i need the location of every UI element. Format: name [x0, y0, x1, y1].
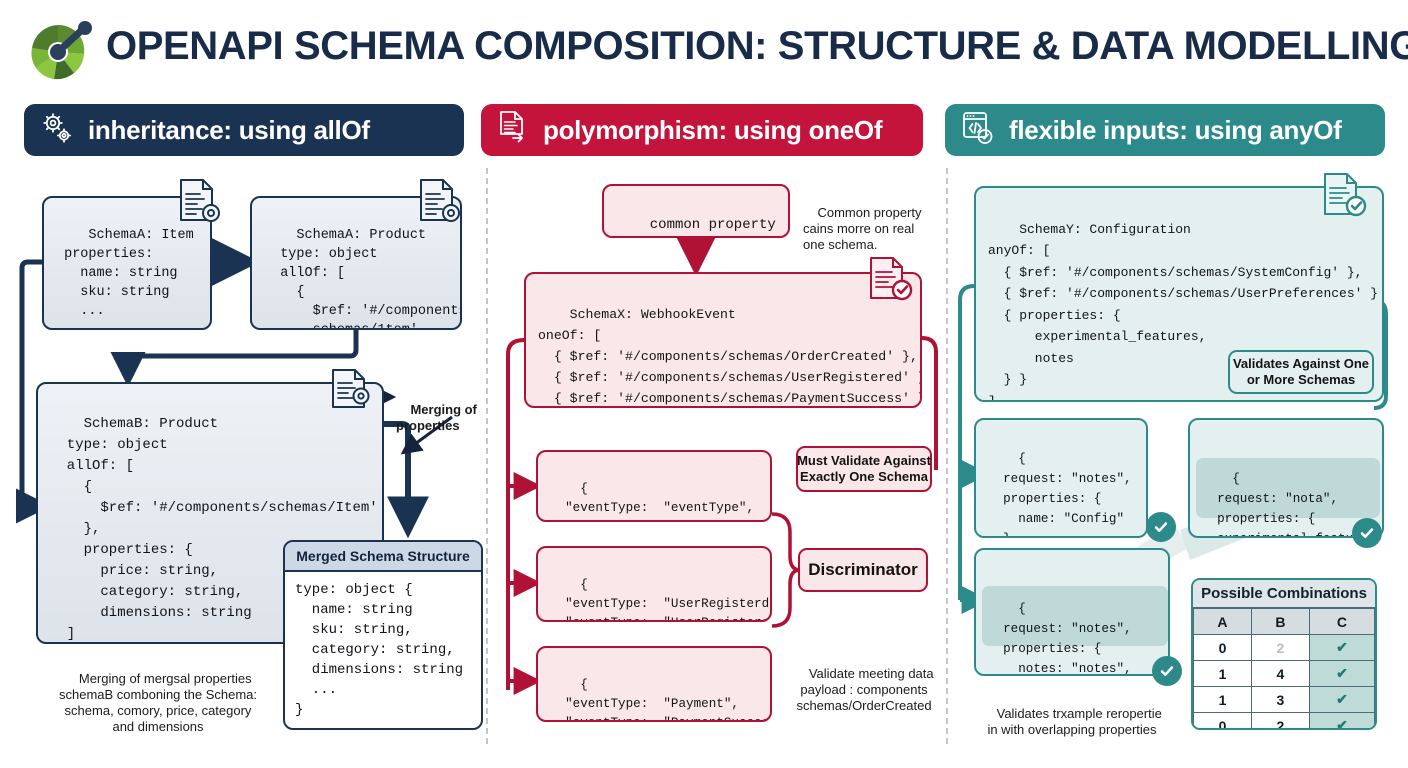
- table-header-row: A B C: [1194, 609, 1375, 635]
- browser-code-check-icon: [961, 110, 995, 151]
- check-badge: [1152, 656, 1182, 686]
- section-banner-allof[interactable]: inheritance: using allOf: [24, 104, 464, 156]
- cell-c-check: ✔: [1309, 635, 1374, 661]
- payload-order-created-text: { "eventType: "eventType", "eventType: "…: [550, 482, 769, 522]
- cell-b: 2: [1251, 635, 1309, 661]
- cell-c-check: ✔: [1309, 713, 1374, 731]
- infographic-root: OPENAPI SCHEMA COMPOSITION: STRUCTURE & …: [0, 0, 1408, 768]
- cell-a: 1: [1194, 661, 1252, 687]
- cell-b: 2: [1251, 713, 1309, 731]
- openapi-gauge-logo-icon: [26, 18, 98, 84]
- schema-x-webhookevent-card: SchemaX: WebhookEvent oneOf: [ { $ref: '…: [524, 272, 922, 408]
- payload-payment-success-text: { "eventType: "Payment", "eventType: "Pa…: [550, 678, 772, 722]
- possible-combinations-table: Possible Combinations A B C 0 2 ✔ 1 4 ✔: [1191, 578, 1377, 730]
- merging-summary-note: Merging of mergsal properties schemaB co…: [30, 655, 286, 751]
- highlight-band: [1196, 458, 1380, 518]
- check-badge: [1146, 512, 1176, 542]
- cell-a: 0: [1194, 635, 1252, 661]
- table-row: 1 4 ✔: [1194, 661, 1375, 687]
- section-banner-anyof[interactable]: flexible inputs: using anyOf: [945, 104, 1385, 156]
- section-banner-anyof-label: flexible inputs: using anyOf: [1009, 115, 1342, 146]
- overlapping-properties-note: Validates trxample reropertie in with ov…: [964, 690, 1180, 754]
- payload-user-registered-card: { "eventType: "UserRegisterd", "eventTyp…: [536, 546, 772, 622]
- must-validate-chip: Must Validate Against Exactly One Schema: [796, 446, 932, 492]
- example-notes-request-card: { request: "notes", properties: { notes:…: [974, 548, 1170, 676]
- payload-payment-success-card: { "eventType: "Payment", "eventType: "Pa…: [536, 646, 772, 722]
- example-config-request-text: { request: "notes", properties: { name: …: [988, 452, 1132, 538]
- merged-schema-structure-body: type: object { name: string sku: string,…: [285, 572, 481, 728]
- page-header: OPENAPI SCHEMA COMPOSITION: STRUCTURE & …: [0, 0, 1408, 96]
- cell-c-check: ✔: [1309, 687, 1374, 713]
- cell-c-check: ✔: [1309, 661, 1374, 687]
- example-config-request-card: { request: "notes", properties: { name: …: [974, 418, 1148, 538]
- example-nota-request-card: { request: "nota", properties: { experim…: [1188, 418, 1384, 538]
- document-gear-icon: [178, 178, 222, 228]
- possible-combinations-title: Possible Combinations: [1193, 580, 1375, 608]
- cell-b: 4: [1251, 661, 1309, 687]
- column-header-a: A: [1194, 609, 1252, 635]
- schema-a-item-text: SchemaA: Item properties: name: string s…: [56, 228, 194, 319]
- column-header-b: B: [1251, 609, 1309, 635]
- schema-x-webhookevent-text: SchemaX: WebhookEvent oneOf: [ { $ref: '…: [538, 307, 922, 408]
- table-row: 0 2 ✔: [1194, 635, 1375, 661]
- highlight-band: [982, 586, 1168, 646]
- validates-against-chip: Validates Against One or More Schemas: [1228, 350, 1374, 394]
- table-row: 1 3 ✔: [1194, 687, 1375, 713]
- document-gear-icon: [418, 178, 462, 228]
- column-divider-1: [486, 168, 488, 744]
- cell-a: 0: [1194, 713, 1252, 731]
- section-banner-oneof-label: polymorphism: using oneOf: [543, 115, 882, 146]
- section-banner-oneof[interactable]: polymorphism: using oneOf: [481, 104, 923, 156]
- document-check-icon: [1322, 172, 1366, 222]
- page-title: OPENAPI SCHEMA COMPOSITION: STRUCTURE & …: [106, 24, 1408, 69]
- column-header-c: C: [1309, 609, 1374, 635]
- common-property-card: common property eventType: string: [602, 184, 790, 238]
- combinations-table: A B C 0 2 ✔ 1 4 ✔ 1 3: [1193, 608, 1375, 730]
- common-property-text: common property eventType: string: [625, 217, 776, 238]
- discriminator-chip: Discriminator: [798, 548, 928, 592]
- column-divider-2: [946, 168, 948, 744]
- cell-b: 3: [1251, 687, 1309, 713]
- document-merge-icon: [330, 368, 374, 418]
- merged-schema-structure-title: Merged Schema Structure: [285, 542, 481, 572]
- cell-a: 1: [1194, 687, 1252, 713]
- gears-icon: [40, 111, 74, 150]
- payload-order-created-card: { "eventType: "eventType", "eventType: "…: [536, 450, 772, 522]
- validate-payload-note: Validate meeting data payload : componen…: [790, 650, 938, 730]
- check-badge: [1352, 518, 1382, 548]
- merging-of-properties-note: Merging of properties: [396, 386, 482, 450]
- merged-schema-structure-panel: Merged Schema Structure type: object { n…: [283, 540, 483, 730]
- schema-a-product-text: SchemaA: Product type: object allOf: [ {…: [264, 228, 462, 330]
- payload-user-registered-text: { "eventType: "UserRegisterd", "eventTyp…: [550, 578, 772, 622]
- table-row: 0 2 ✔: [1194, 713, 1375, 731]
- document-check-icon: [868, 256, 912, 306]
- section-banner-allof-label: inheritance: using allOf: [88, 115, 370, 146]
- document-arrow-icon: [497, 110, 529, 151]
